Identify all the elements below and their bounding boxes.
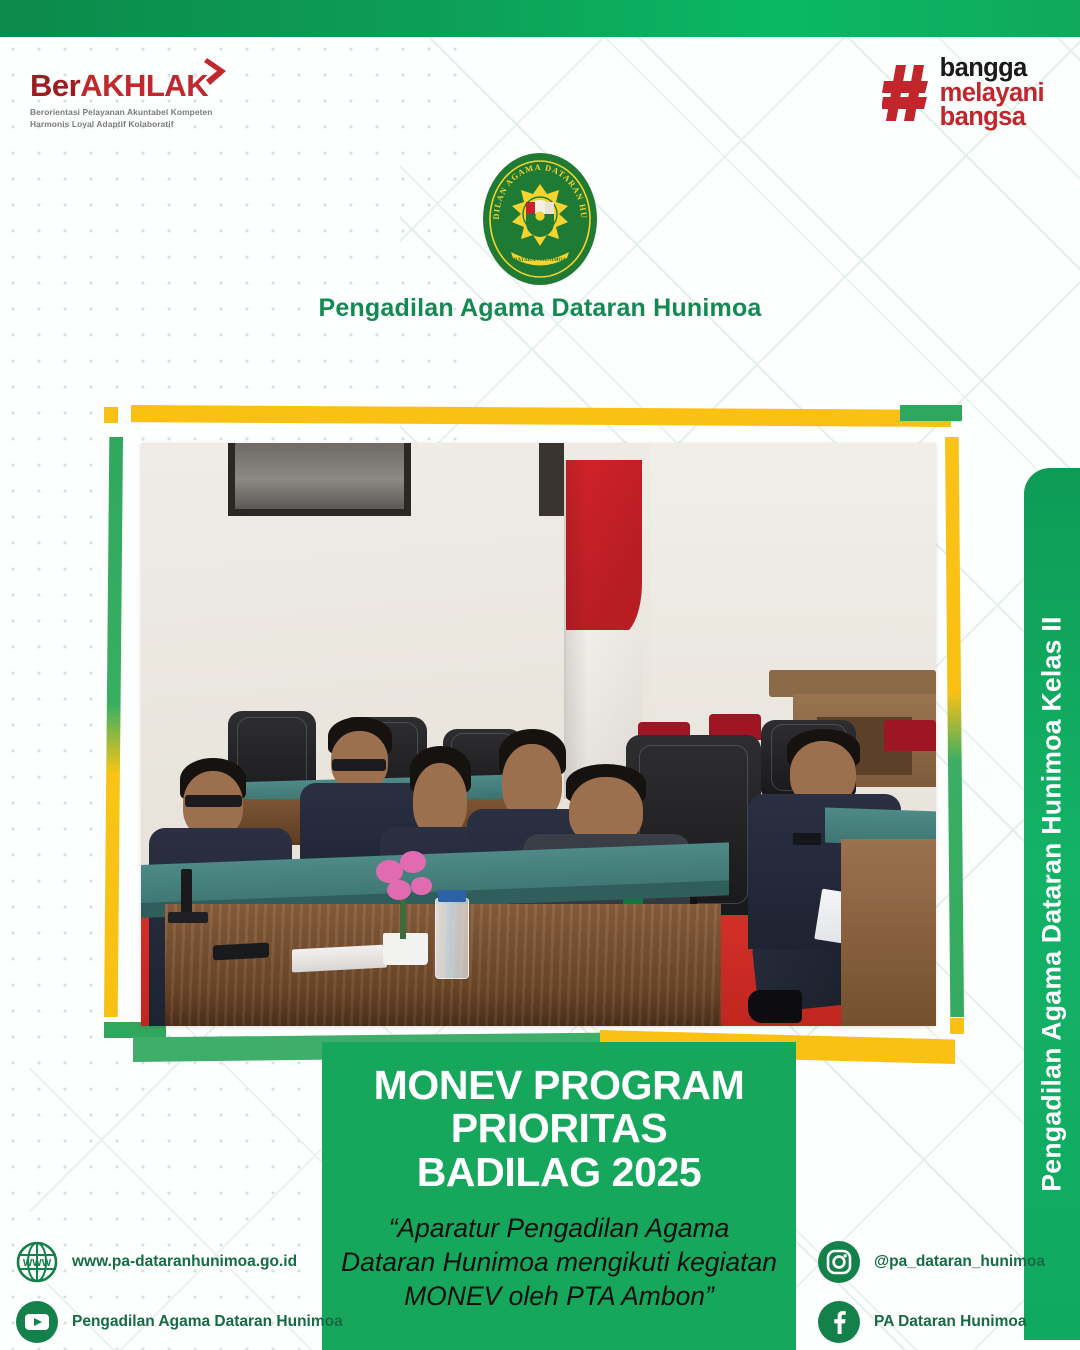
photo-microphone <box>181 869 192 916</box>
side-tab-label: Pengadilan Agama Dataran Hunimoa Kelas I… <box>1037 616 1068 1191</box>
photo-microphone-base <box>168 912 208 922</box>
berakhlak-tagline-line2: Harmonis Loyal Adaptif Kolaboratif <box>30 118 245 130</box>
berakhlak-tagline: Berorientasi Pelayanan Akuntabel Kompete… <box>30 106 245 130</box>
bangga-line3: bangsa <box>940 105 1044 130</box>
bangga-line2: melayani <box>940 81 1044 106</box>
event-photo-scene <box>141 443 936 1026</box>
bangga-line1: bangga <box>940 56 1044 81</box>
chevron-right-icon <box>204 56 230 86</box>
photo-window-mullion <box>539 443 564 516</box>
berakhlak-suffix: AKHLAK <box>80 68 208 103</box>
top-green-band <box>0 0 1080 37</box>
frame-nub-bottom-right <box>950 1018 964 1034</box>
contact-facebook[interactable]: PA Dataran Hunimoa <box>818 1296 1045 1348</box>
website-label: www.pa-dataranhunimoa.go.id <box>72 1253 297 1271</box>
headline-line3: BADILAG 2025 <box>340 1151 778 1194</box>
svg-text:DATARAN HUNIMOA: DATARAN HUNIMOA <box>514 257 567 263</box>
contact-youtube[interactable]: Pengadilan Agama Dataran Hunimoa <box>16 1296 343 1348</box>
website-globe-icon: WWW <box>16 1241 58 1283</box>
berakhlak-logo: BerAKHLAK Berorientasi Pelayanan Akuntab… <box>30 70 245 130</box>
headline-line1: MONEV PROGRAM <box>340 1064 778 1107</box>
poster-canvas: BerAKHLAK Berorientasi Pelayanan Akuntab… <box>0 0 1080 1350</box>
youtube-icon <box>16 1301 58 1343</box>
berakhlak-wordmark: BerAKHLAK <box>30 70 208 101</box>
photo-desk-right-face <box>841 839 936 1026</box>
photo-window <box>228 443 411 516</box>
frame-nub-top-left <box>104 407 118 423</box>
instagram-icon <box>818 1241 860 1283</box>
facebook-label: PA Dataran Hunimoa <box>874 1313 1026 1331</box>
photo-flower-pot <box>383 933 428 966</box>
side-tab: Pengadilan Agama Dataran Hunimoa Kelas I… <box>1024 468 1080 1340</box>
photo-orchid-bloom <box>411 877 432 894</box>
headline: MONEV PROGRAM PRIORITAS BADILAG 2025 <box>340 1064 778 1194</box>
contacts-left: WWW www.pa-dataranhunimoa.go.id Pengadil… <box>16 1236 343 1350</box>
svg-text:WWW: WWW <box>23 1258 52 1269</box>
court-emblem-icon: PENGADILAN AGAMA DATARAN HUNIMOA DATARAN… <box>481 152 599 292</box>
facebook-icon <box>818 1301 860 1343</box>
berakhlak-tagline-line1: Berorientasi Pelayanan Akuntabel Kompete… <box>30 106 245 118</box>
title-block: MONEV PROGRAM PRIORITAS BADILAG 2025 “Ap… <box>322 1042 796 1350</box>
bangga-melayani-bangsa-logo: bangga melayani bangsa <box>882 56 1044 130</box>
bangga-wordmark: bangga melayani bangsa <box>940 56 1044 130</box>
contacts-right: @pa_dataran_hunimoa PA Dataran Hunimoa <box>818 1236 1045 1350</box>
contact-website[interactable]: WWW www.pa-dataranhunimoa.go.id <box>16 1236 343 1288</box>
youtube-label: Pengadilan Agama Dataran Hunimoa <box>72 1313 343 1331</box>
hashtag-icon <box>882 63 930 123</box>
frame-corner-top-right <box>900 405 962 421</box>
event-photo <box>141 443 936 1026</box>
page-title: Pengadilan Agama Dataran Hunimoa <box>0 294 1080 323</box>
headline-line2: PRIORITAS <box>340 1107 778 1150</box>
photo-orchid-bloom <box>400 851 425 873</box>
caption-quote: “Aparatur Pengadilan Agama Dataran Hunim… <box>340 1212 778 1314</box>
photo-bottle-cap <box>438 890 466 903</box>
berakhlak-prefix: Ber <box>30 68 80 103</box>
contact-instagram[interactable]: @pa_dataran_hunimoa <box>818 1236 1045 1288</box>
instagram-label: @pa_dataran_hunimoa <box>874 1253 1045 1271</box>
photo-water-bottle <box>435 898 468 980</box>
